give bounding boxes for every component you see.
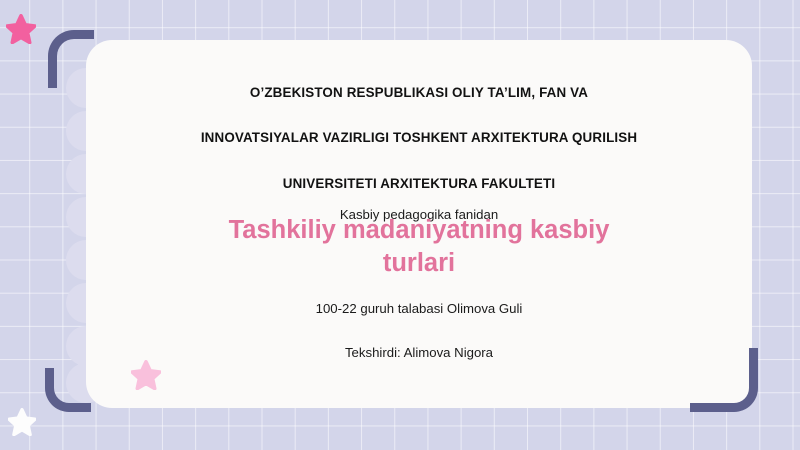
heading-line-3: UNIVERSITETI ARXITEKTURA FAKULTETI: [86, 176, 752, 191]
footer-student-line: 100-22 guruh talabasi Olimova Guli: [86, 301, 752, 316]
slide-text-block: O’ZBEKISTON RESPUBLIKASI OLIY TA’LIM, FA…: [86, 40, 752, 408]
heading-line-2: INNOVATSIYALAR VAZIRLIGI TOSHKENT ARXITE…: [86, 130, 752, 145]
star-icon-top-left: [6, 14, 36, 44]
heading-line-1: O’ZBEKISTON RESPUBLIKASI OLIY TA’LIM, FA…: [86, 85, 752, 100]
footer-reviewer-line: Tekshirdi: Alimova Nigora: [86, 345, 752, 360]
corner-bracket-bottom-left: [45, 368, 91, 412]
star-icon-bottom-left-white: [8, 408, 36, 436]
presentation-slide: O’ZBEKISTON RESPUBLIKASI OLIY TA’LIM, FA…: [0, 0, 800, 450]
slide-title: Tashkiliy madaniyatning kasbiy turlari: [219, 214, 619, 280]
